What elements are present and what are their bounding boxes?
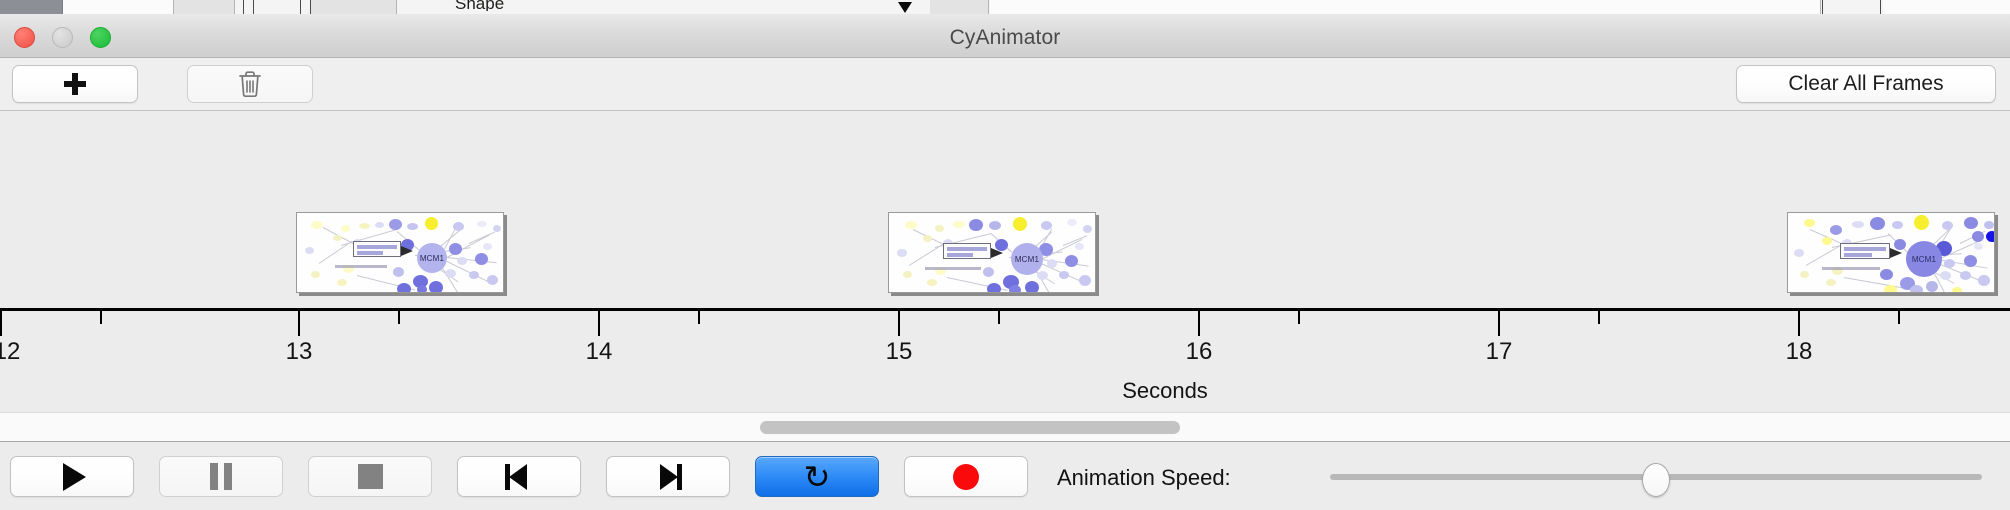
bg-chip (930, 0, 989, 14)
clear-all-frames-button[interactable]: Clear All Frames (1736, 65, 1996, 103)
toolbar: Clear All Frames (0, 58, 2010, 111)
frame-caption (925, 267, 981, 270)
skip-back-icon (505, 464, 533, 490)
ruler-tick-major (0, 311, 2, 336)
ruler-tick-minor (100, 311, 102, 324)
stop-icon (358, 464, 383, 489)
ruler-tick-minor (1598, 311, 1600, 324)
bg-tick (253, 0, 254, 14)
bg-chip (990, 0, 1821, 14)
ruler-tick-label: 17 (1486, 338, 1513, 366)
frame-callout-pointer (401, 246, 413, 256)
frame-hub-node: MCM1 (1011, 243, 1043, 275)
frame-callout (353, 241, 401, 257)
timeline-track[interactable]: MCM1 (0, 111, 2010, 308)
frame-network-graph: MCM1 (297, 213, 503, 292)
ruler-tick-label: 13 (286, 338, 313, 366)
frame-network-graph: MCM1 (1788, 213, 1994, 292)
ruler-axis-line (0, 308, 2010, 311)
frame-callout (1840, 243, 1890, 259)
frame-caption (335, 265, 387, 268)
ruler-tick-minor (1298, 311, 1300, 324)
bg-tick (300, 0, 301, 14)
clear-all-frames-label: Clear All Frames (1788, 72, 1943, 96)
ruler-tick-major (298, 311, 300, 336)
ruler-tick-major (598, 311, 600, 336)
bg-cursor-arrow-icon (898, 2, 912, 13)
delete-frame-button[interactable] (187, 65, 313, 103)
timeline-frame-thumbnail[interactable]: MCM1 (888, 212, 1096, 293)
slider-knob[interactable] (1642, 463, 1670, 497)
last-frame-button[interactable] (606, 456, 730, 497)
bg-tick (1880, 0, 1881, 14)
ruler-tick-major (1198, 311, 1200, 336)
play-button[interactable] (10, 456, 134, 497)
ruler-tick-label: 14 (586, 338, 613, 366)
ruler-axis-title: Seconds (0, 378, 2010, 404)
pause-icon (210, 463, 232, 490)
ruler-tick-major (1498, 311, 1500, 336)
ruler-tick-label: 15 (886, 338, 913, 366)
bg-tick (1822, 0, 1823, 14)
trash-icon (237, 69, 263, 99)
ruler-tick-label: 18 (1786, 338, 1813, 366)
ruler-tick-minor (698, 311, 700, 324)
ruler-axis-title-text: Seconds (1122, 378, 1208, 403)
bg-chip (174, 0, 235, 14)
title-bar: CyAnimator (0, 14, 2010, 58)
timeline-scrollbar[interactable] (0, 412, 2010, 442)
timeline-ruler[interactable]: 12 13 14 15 16 17 18 Seconds (0, 308, 2010, 410)
plus-icon (63, 72, 87, 96)
background-window-strip: Shape (0, 0, 2010, 15)
window-title: CyAnimator (0, 26, 2010, 50)
bg-chip (0, 0, 63, 14)
frame-hub-node: MCM1 (1906, 241, 1942, 277)
ruler-tick-minor (998, 311, 1000, 324)
skip-forward-icon (654, 464, 682, 490)
bg-chip (311, 0, 397, 14)
bg-tick (243, 0, 244, 14)
ruler-tick-label: 16 (1186, 338, 1213, 366)
animation-speed-label: Animation Speed: (1057, 465, 1231, 491)
loop-icon: ↻ (804, 462, 831, 492)
ruler-tick-minor (1898, 311, 1900, 324)
stop-button[interactable] (308, 456, 432, 497)
cyanimator-window: Shape CyAnimator Clear All Frames (0, 0, 2010, 510)
ruler-tick-label: 12 (0, 338, 20, 366)
bg-chip (1883, 0, 2010, 14)
scrollbar-thumb[interactable] (760, 421, 1180, 434)
ruler-tick-minor (398, 311, 400, 324)
frame-hub-node: MCM1 (417, 243, 447, 273)
pause-button[interactable] (159, 456, 283, 497)
frame-callout-pointer (991, 248, 1003, 258)
frame-caption (1822, 267, 1880, 270)
add-frame-button[interactable] (12, 65, 138, 103)
frame-callout-pointer (1890, 248, 1902, 258)
timeline-frame-thumbnail[interactable]: MCM1 (296, 212, 504, 293)
frame-network-graph: MCM1 (889, 213, 1095, 292)
frame-callout (943, 243, 991, 259)
timeline-frame-thumbnail[interactable]: MCM1 (1787, 212, 1995, 293)
play-icon (63, 463, 86, 491)
first-frame-button[interactable] (457, 456, 581, 497)
loop-button[interactable]: ↻ (755, 456, 879, 497)
playback-toolbar: ↻ Animation Speed: (0, 443, 2010, 510)
ruler-tick-major (1798, 311, 1800, 336)
animation-speed-slider[interactable] (1330, 456, 1982, 497)
background-window-label: Shape (455, 0, 545, 11)
ruler-tick-major (898, 311, 900, 336)
bg-chip (63, 0, 174, 14)
record-icon (953, 464, 979, 490)
record-button[interactable] (904, 456, 1028, 497)
